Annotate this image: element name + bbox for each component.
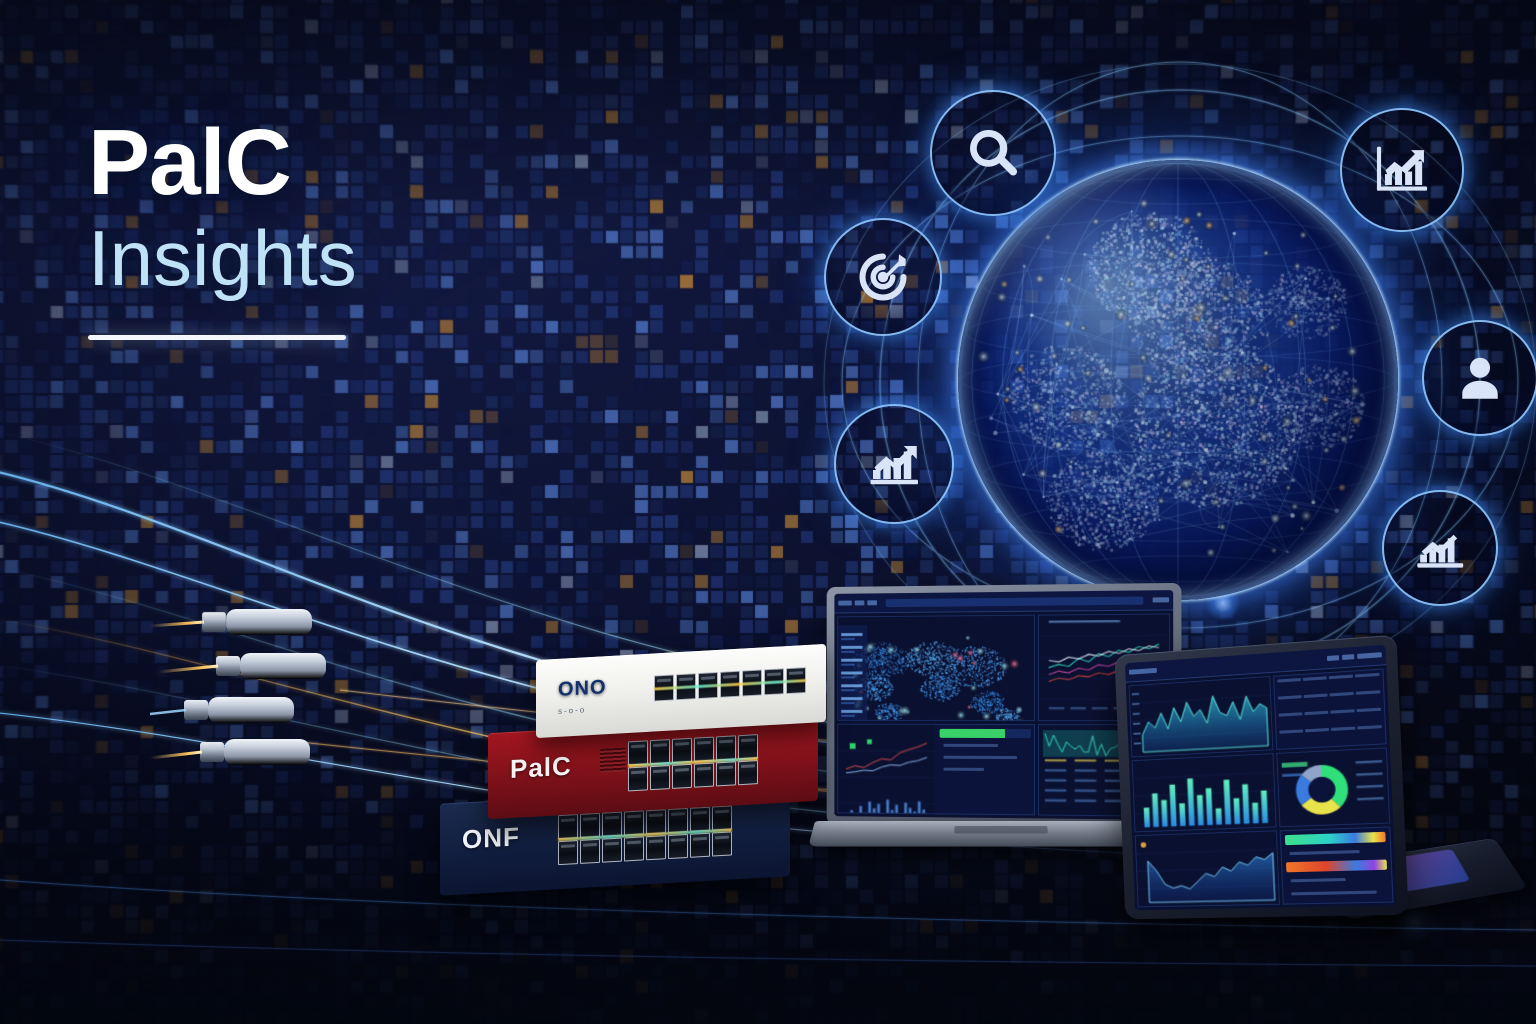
ethernet-port <box>650 739 670 764</box>
switch-palc-label: PalC <box>510 751 572 785</box>
connector <box>158 653 326 679</box>
network-switch-stack: ONF PalC ONO s-o-o <box>440 652 860 892</box>
ethernet-port <box>602 838 622 863</box>
panel-trend <box>837 723 1035 815</box>
ethernet-port <box>668 808 688 833</box>
target-icon-badge[interactable] <box>826 220 940 334</box>
hero-banner: PalC Insights <box>0 0 1536 1024</box>
ethernet-port <box>646 809 666 834</box>
ethernet-port <box>646 835 666 860</box>
bar-chart-up-icon <box>1411 519 1469 577</box>
ethernet-port <box>738 760 758 785</box>
panel-bars <box>1132 753 1277 832</box>
ethernet-port <box>580 839 600 864</box>
person-icon <box>1452 350 1508 406</box>
ethernet-port <box>602 812 622 837</box>
page-title: PalC <box>88 118 568 206</box>
switch-onos-sublabel: s-o-o <box>558 705 586 716</box>
title-divider <box>88 335 346 340</box>
tablet-body <box>1114 635 1408 920</box>
ethernet-port <box>672 738 692 763</box>
ethernet-port <box>650 765 670 790</box>
ethernet-port <box>676 673 696 700</box>
panel-world-map <box>837 615 1035 721</box>
panel-gradient-bars <box>1279 827 1393 905</box>
connector <box>150 739 310 765</box>
panel-kpi-grid <box>1273 669 1387 750</box>
panel-area-bottom <box>1135 830 1280 907</box>
bar-chart-up-icon <box>864 434 924 494</box>
ethernet-port <box>742 669 762 696</box>
ethernet-port <box>712 805 732 830</box>
search-icon-badge[interactable] <box>932 92 1054 214</box>
user-icon-badge[interactable] <box>1424 322 1536 434</box>
ethernet-port <box>720 671 740 698</box>
ethernet-port <box>668 834 688 859</box>
ethernet-port <box>672 764 692 789</box>
ethernet-port <box>690 807 710 832</box>
analytics-icon-badge[interactable] <box>836 406 952 522</box>
page-subtitle: Insights <box>88 220 568 296</box>
ethernet-port <box>558 814 578 839</box>
connector <box>150 609 312 635</box>
connector <box>150 697 294 723</box>
switch-onos-label: ONO <box>558 676 607 702</box>
ethernet-port <box>786 667 806 694</box>
report-chart-icon-badge[interactable] <box>1384 492 1496 604</box>
ethernet-port <box>654 674 674 701</box>
network-globe <box>958 160 1398 600</box>
ethernet-port <box>624 810 644 835</box>
panel-area-top <box>1129 676 1273 757</box>
bar-chart-up-icon <box>1371 139 1433 201</box>
switch-onos[interactable]: ONO s-o-o <box>536 644 826 738</box>
ethernet-port <box>628 766 648 791</box>
ethernet-port <box>628 740 648 765</box>
ethernet-port <box>712 831 732 856</box>
tablet-screen <box>1125 645 1397 911</box>
ethernet-port <box>738 734 758 759</box>
brand-block: PalC Insights <box>88 118 568 340</box>
ethernet-port <box>624 836 644 861</box>
tablet-dashboard-content <box>1125 645 1397 911</box>
growth-chart-icon-badge[interactable] <box>1342 110 1462 230</box>
ethernet-port <box>698 672 718 699</box>
laptop-trackpad[interactable] <box>954 826 1048 834</box>
ethernet-port <box>716 761 736 786</box>
tablet-dashboard[interactable] <box>1114 635 1408 920</box>
ethernet-port <box>558 840 578 865</box>
switch-onf-label: ONF <box>462 821 520 855</box>
target-icon <box>853 247 913 307</box>
ethernet-port <box>764 668 784 695</box>
search-icon <box>962 122 1024 184</box>
ethernet-port <box>694 737 714 762</box>
panel-donut <box>1276 748 1390 828</box>
vent-grille <box>600 748 626 773</box>
fiber-optic-connectors <box>150 600 480 820</box>
ethernet-port <box>716 735 736 760</box>
ethernet-port <box>580 813 600 838</box>
ethernet-port <box>690 833 710 858</box>
ethernet-port <box>694 763 714 788</box>
